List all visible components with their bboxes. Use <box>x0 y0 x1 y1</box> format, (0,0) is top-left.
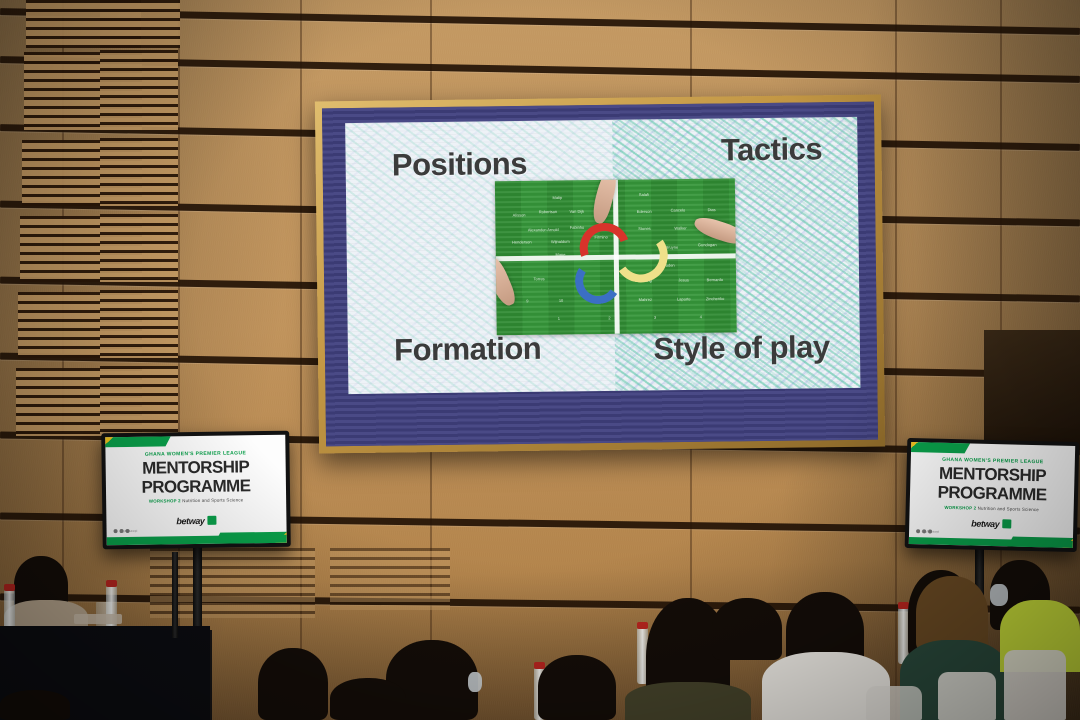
monitor-workshop-label: WORKSHOP 2 <box>149 499 181 504</box>
monitor-title-line2: PROGRAMME <box>910 484 1074 504</box>
head-table-extension <box>190 630 212 720</box>
monitor-title-line2: PROGRAMME <box>106 477 286 495</box>
wall-grille-block <box>330 548 450 610</box>
monitor-league-label: GHANA WOMEN'S PREMIER LEAGUE <box>105 450 285 459</box>
slide-label-positions: Positions <box>392 145 527 183</box>
monitor-workshop-topic: Nutrition and Sports Science <box>978 505 1039 511</box>
slide-bottom-strip <box>107 535 287 545</box>
betway-wordmark: betway <box>176 516 204 526</box>
pitch-player-label: Henderson <box>512 240 532 245</box>
social-dot-icon <box>916 529 920 533</box>
monitor-workshop-label: WORKSHOP 2 <box>944 504 976 510</box>
social-dot-icon <box>928 529 932 533</box>
pitch-player-label: Matip <box>552 195 562 200</box>
pitch-player-label: Bernardo <box>707 277 724 282</box>
pitch-player-label: Walker <box>674 225 686 230</box>
pitch-player-label: 9 <box>526 298 528 303</box>
bottle-cap <box>4 584 15 591</box>
right-monitor: GHANA WOMEN'S PREMIER LEAGUE MENTORSHIP … <box>905 438 1080 552</box>
audience-member <box>258 648 328 720</box>
left-monitor: GHANA WOMEN'S PREMIER LEAGUE MENTORSHIP … <box>101 431 291 550</box>
face-mask <box>990 584 1008 606</box>
face-mask <box>468 672 482 692</box>
wall-grille-block <box>100 366 178 436</box>
monitor-title-line1: MENTORSHIP <box>106 459 286 477</box>
monitor-social-row: @ghanawpl <box>916 529 932 533</box>
audience-shoulders <box>625 682 751 720</box>
bottle-cap <box>637 622 648 629</box>
right-monitor-screen: GHANA WOMEN'S PREMIER LEAGUE MENTORSHIP … <box>909 442 1075 548</box>
slide-label-tactics: Tactics <box>721 131 822 168</box>
projection-screen-frame: Positions Tactics Formation Style of pla… <box>315 95 885 454</box>
pitch-player-label: Alexander-Arnold <box>528 227 559 232</box>
betway-square-icon <box>207 516 216 525</box>
pitch-player-label: Robertson <box>539 209 558 214</box>
pitch-player-label: Salah <box>639 192 649 197</box>
wall-grille-block <box>100 290 178 358</box>
wall-grille-block <box>100 0 180 48</box>
projection-screen: Positions Tactics Formation Style of pla… <box>322 102 878 447</box>
pitch-player-label: Mane <box>555 252 565 257</box>
slide-label-formation: Formation <box>394 331 541 369</box>
chair-back <box>866 686 922 720</box>
pitch-player-label: Zinchenko <box>706 296 725 301</box>
slide-canvas: Positions Tactics Formation Style of pla… <box>345 117 861 394</box>
audience-member <box>538 655 616 720</box>
pitch-player-label: Wijnaldum <box>551 239 570 244</box>
pitch-player-label: Fabinho <box>570 225 585 230</box>
betway-wordmark: betway <box>971 518 999 529</box>
wall-seam <box>895 0 897 720</box>
audience-member <box>712 598 782 660</box>
chair-back <box>1004 650 1066 720</box>
monitor-sponsor-logo: betway <box>106 514 286 527</box>
pitch-player-label: Cancelo <box>671 207 686 212</box>
water-bottle <box>4 590 15 630</box>
monitor-workshop-topic: Nutrition and Sports Science <box>182 498 243 504</box>
bottle-cap <box>106 580 117 587</box>
chair-back <box>938 672 996 720</box>
wall-grille-block <box>100 50 178 130</box>
pitch-player-label: 1 <box>558 316 560 321</box>
pitch-player-label: Dias <box>708 207 716 212</box>
pitch-player-label: Alisson <box>513 212 526 217</box>
pitch-player-label: 3 <box>654 315 656 320</box>
monitor-title-line1: MENTORSHIP <box>910 465 1074 485</box>
slide-accent-top-left <box>909 442 989 454</box>
pitch-player-label: 4 <box>700 315 702 320</box>
slide-accent-top-left <box>105 435 189 449</box>
slide-label-style-of-play: Style of play <box>653 329 830 367</box>
wall-grille-block <box>100 214 178 282</box>
monitor-social-handle: @ghanawpl <box>120 529 124 533</box>
wall-grille-block <box>100 138 178 206</box>
audience-member <box>0 690 70 720</box>
pitch-player-label: 2 <box>608 316 610 321</box>
pitch-player-label: Laporte <box>677 296 691 301</box>
conference-room-photo: Positions Tactics Formation Style of pla… <box>0 0 1080 720</box>
pitch-player-label: Mahrez <box>639 297 652 302</box>
mic-stand <box>172 552 178 638</box>
pitch-player-label: Van Dijk <box>569 208 584 213</box>
monitor-social-handle: @ghanawpl <box>922 529 926 533</box>
betway-square-icon <box>1002 519 1011 528</box>
monitor-sponsor-logo: betway <box>909 517 1073 531</box>
football-pitch-diagram: Alisson Robertson Van Dijk Matip Alexand… <box>495 178 738 335</box>
documents-on-table <box>74 614 122 624</box>
pitch-player-label: Torres <box>534 276 545 281</box>
pitch-player-label: Ederson <box>637 209 652 214</box>
left-monitor-screen: GHANA WOMEN'S PREMIER LEAGUE MENTORSHIP … <box>105 435 286 546</box>
pointing-hand-left <box>495 253 519 308</box>
pitch-player-label: Gundogan <box>698 242 717 247</box>
pitch-player-label: Jesus <box>678 278 689 283</box>
wall-alcove <box>984 330 1080 450</box>
pitch-player-label: 10 <box>559 298 564 303</box>
social-dot-icon <box>114 529 118 533</box>
audience-member <box>330 678 406 720</box>
monitor-social-row: @ghanawpl <box>114 529 130 533</box>
